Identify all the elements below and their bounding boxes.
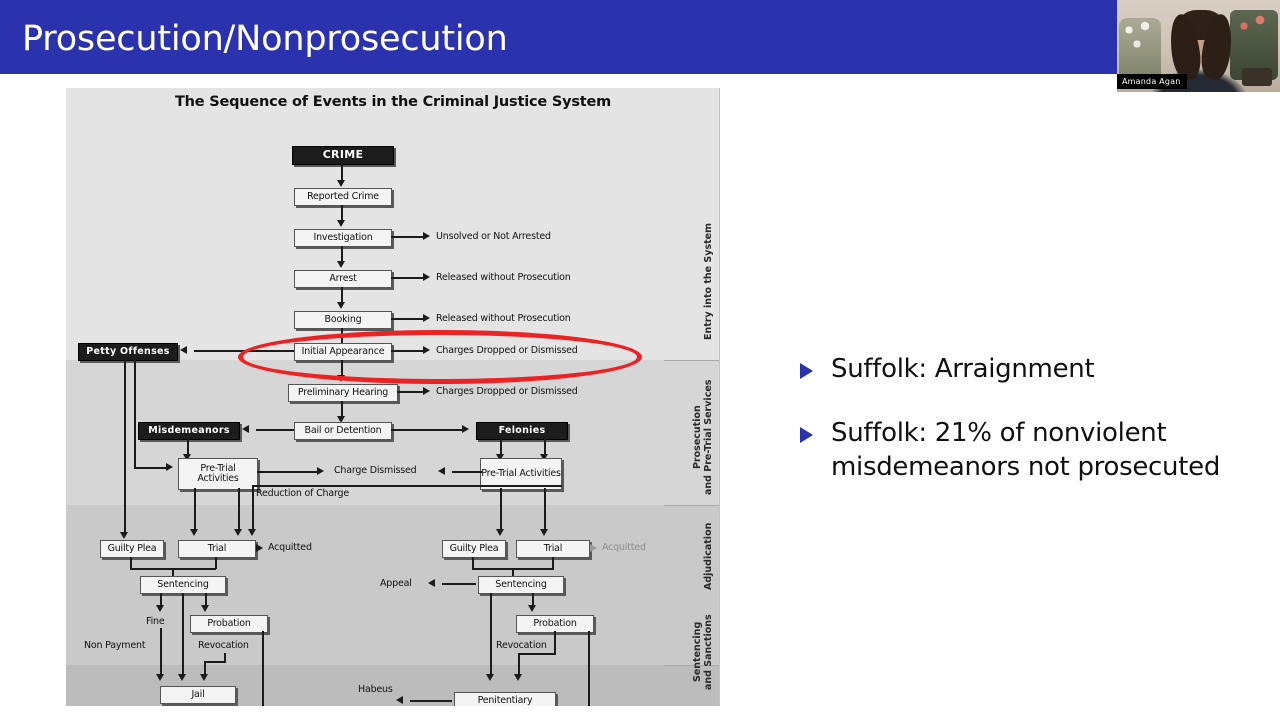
connector-arrest-to-released: [391, 277, 425, 279]
label-reduction-of-charge: Reduction of Charge: [256, 488, 349, 499]
participant-name-label: Amanda Agan: [1117, 74, 1187, 89]
webcam-video-tile[interactable]: Amanda Agan: [1117, 0, 1280, 92]
node-felonies: Felonies: [476, 422, 568, 440]
node-preliminary-hearing: Preliminary Hearing: [288, 384, 398, 402]
arrow-down-reported: [337, 220, 345, 227]
connector-preliminary-to-bail: [341, 401, 343, 417]
connector-investigation-to-arrest: [341, 246, 343, 262]
connector-probation-left-side: [262, 631, 264, 706]
figure-right-edge: [719, 88, 720, 706]
arrow-right-acquitted-right: [590, 544, 597, 552]
connector-pretrial-right-to-dismissed: [452, 471, 482, 473]
connector-revocation-right-down: [554, 631, 556, 653]
node-pretrial-activities-left: Pre-Trial Activities: [178, 458, 258, 490]
connector-probation-right-side: [588, 631, 590, 706]
arrow-down-probation-left: [201, 605, 209, 612]
arrow-left-habeus: [396, 696, 403, 704]
stage-label-column: Entry into the System Prosecution and Pr…: [664, 88, 720, 706]
arrow-down-pretrial-right-b: [540, 529, 548, 536]
slide-canvas: Prosecution/Nonprosecution Amanda Agan T…: [0, 0, 1280, 720]
connector-fine-to-jail: [160, 628, 162, 676]
node-investigation: Investigation: [294, 229, 392, 247]
connector-felonies-down-a: [500, 439, 502, 455]
connector-reduction-of-charge: [252, 485, 562, 487]
connector-investigation-to-unsolved: [391, 236, 425, 238]
connector-sentencing-to-appeal: [442, 583, 476, 585]
connector-petty-offenses-drop: [124, 359, 126, 534]
node-jail: Jail: [160, 686, 236, 704]
triangle-bullet-icon: [800, 427, 813, 443]
connector-booking-to-released: [391, 318, 425, 320]
stage-label-entry-into-system: Entry into the System: [703, 206, 714, 356]
arrow-down-arrest: [337, 302, 345, 309]
node-bail-or-detention: Bail or Detention: [294, 422, 392, 440]
arrow-down-fine: [156, 605, 164, 612]
arrow-down-pretrial-left-a: [190, 529, 198, 536]
connector-reported-to-investigation: [341, 205, 343, 221]
label-charges-dropped-or-dismissed-2: Charges Dropped or Dismissed: [436, 386, 578, 397]
red-highlight-ellipse: [238, 330, 642, 384]
label-fine: Fine: [146, 616, 164, 627]
arrow-right-charge-dismissed-left: [317, 467, 324, 475]
connector-petty-offenses-drop-b: [134, 359, 136, 469]
arrow-down-penitentiary-a: [486, 674, 494, 681]
connector-sentencing-to-jail: [182, 593, 184, 676]
arrow-right-felonies: [462, 425, 469, 433]
connector-misdemeanors-down: [187, 439, 189, 455]
arrow-down-pretrial-right-a: [496, 529, 504, 536]
arrow-down-probation-right: [528, 605, 536, 612]
arrow-down-petty-to-guilty-plea: [120, 532, 128, 539]
stage-label-adjudication: Adjudication: [703, 512, 714, 600]
arrow-left-petty-offenses: [180, 346, 187, 354]
connector-bail-to-misdemeanors: [256, 429, 294, 431]
label-revocation-left: Revocation: [198, 640, 249, 651]
node-arrest: Arrest: [294, 270, 392, 288]
node-trial-left: Trial: [178, 540, 256, 558]
list-item: Suffolk: 21% of nonviolent misdemeanors …: [800, 416, 1250, 484]
label-charge-dismissed: Charge Dismissed: [334, 465, 416, 476]
label-acquitted-left: Acquitted: [268, 542, 312, 553]
arrow-right-booking: [423, 314, 430, 322]
connector-pretrial-right-to-trial: [544, 488, 546, 531]
node-probation-left: Probation: [190, 615, 268, 633]
connector-petty-to-pretrial: [134, 467, 168, 469]
label-unsolved-or-not-arrested: Unsolved or Not Arrested: [436, 231, 551, 242]
connector-revocation-right-over: [518, 653, 556, 655]
arrow-right-preliminary-hearing: [423, 387, 430, 395]
node-guilty-plea-left: Guilty Plea: [100, 540, 164, 558]
node-booking: Booking: [294, 311, 392, 329]
connector-pretrial-left-to-guilty: [194, 488, 196, 531]
stage-label-prosecution-pretrial: Prosecution and Pre-Trial Services: [692, 373, 714, 501]
connector-pretrial-left-to-trial: [238, 488, 240, 531]
node-sentencing-left: Sentencing: [140, 576, 226, 594]
arrow-down-jail-a: [156, 674, 164, 681]
arrow-left-charge-dismissed-right: [438, 467, 445, 475]
bullet-text-1: Suffolk: Arraignment: [831, 352, 1094, 386]
arrow-down-crime: [337, 180, 345, 187]
figure-title: The Sequence of Events in the Criminal J…: [66, 94, 720, 110]
arrow-down-investigation: [337, 261, 345, 268]
label-released-without-prosecution-1: Released without Prosecution: [436, 272, 571, 283]
node-guilty-plea-right: Guilty Plea: [442, 540, 506, 558]
connector-crime-to-reported: [341, 164, 343, 181]
band-divider-1: [664, 360, 720, 361]
node-crime: CRIME: [292, 146, 394, 165]
connector-pretrial-right-to-guilty: [500, 488, 502, 531]
node-trial-right: Trial: [516, 540, 590, 558]
connector-arrest-to-booking: [341, 287, 343, 303]
criminal-justice-flowchart: The Sequence of Events in the Criminal J…: [66, 88, 720, 706]
page-title: Prosecution/Nonprosecution: [22, 18, 508, 60]
node-misdemeanors: Misdemeanors: [138, 422, 240, 440]
node-reported-crime: Reported Crime: [294, 188, 392, 206]
node-sentencing-right: Sentencing: [478, 576, 564, 594]
label-released-without-prosecution-2: Released without Prosecution: [436, 313, 571, 324]
arrow-down-penitentiary-b: [514, 674, 522, 681]
orchid-plant-icon: [1119, 18, 1161, 80]
label-appeal: Appeal: [380, 578, 412, 589]
label-non-payment: Non Payment: [84, 640, 145, 651]
label-habeus: Habeus: [358, 684, 393, 695]
connector-penitentiary-to-habeus: [410, 700, 452, 702]
connector-preliminary-to-charges: [397, 391, 425, 393]
label-revocation-right: Revocation: [496, 640, 547, 651]
arrow-right-petty-to-pretrial: [166, 463, 173, 471]
arrow-right-acquitted-left: [256, 544, 263, 552]
arrow-down-jail-b: [178, 674, 186, 681]
connector-bail-to-felonies: [391, 429, 463, 431]
node-penitentiary: Penitentiary: [454, 692, 556, 706]
connector-felonies-down-b: [544, 439, 546, 455]
slide-title-bar: Prosecution/Nonprosecution: [0, 0, 1280, 74]
bullet-list: Suffolk: Arraignment Suffolk: 21% of non…: [800, 352, 1250, 514]
connector-revocation-right-to-penitentiary: [518, 653, 520, 676]
connector-sentencing-right-to-penitentiary: [490, 593, 492, 676]
connector-pretrial-left-to-dismissed: [257, 471, 319, 473]
arrow-down-reduction-of-charge: [248, 529, 256, 536]
connector-reduction-down: [252, 485, 254, 531]
node-petty-offenses: Petty Offenses: [78, 343, 178, 361]
connector-revocation-left-over: [204, 661, 226, 663]
bullet-text-2: Suffolk: 21% of nonviolent misdemeanors …: [831, 416, 1250, 484]
arrow-down-jail-c: [200, 674, 208, 681]
label-acquitted-right: Acquitted: [602, 542, 646, 553]
stage-label-sentencing-sanctions: Sentencing and Sanctions: [692, 604, 714, 700]
arrow-down-pretrial-left-b: [234, 529, 242, 536]
arrow-left-appeal: [428, 579, 435, 587]
triangle-bullet-icon: [800, 363, 813, 379]
band-divider-2: [664, 505, 720, 506]
arrow-left-misdemeanors: [242, 425, 249, 433]
arrow-right-investigation: [423, 232, 430, 240]
plant-pot-icon: [1242, 68, 1272, 86]
list-item: Suffolk: Arraignment: [800, 352, 1250, 386]
arrow-right-arrest: [423, 273, 430, 281]
